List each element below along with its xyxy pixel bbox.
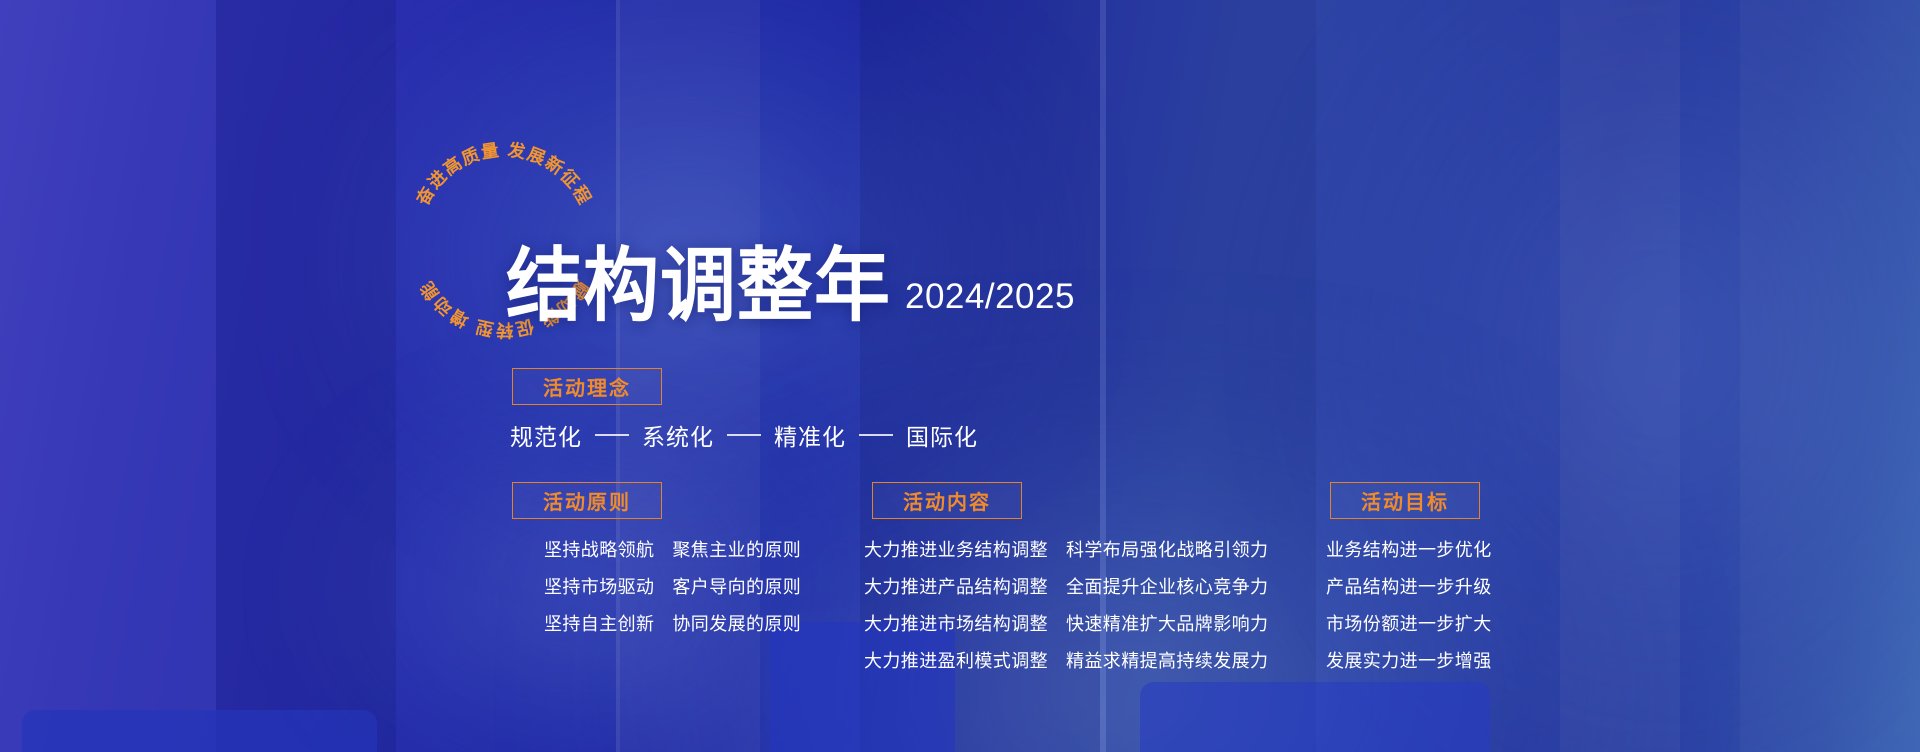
list-item: 坚持战略领航 聚焦主业的原则 (544, 537, 801, 564)
badge-activity-content: 活动内容 (872, 482, 1022, 519)
list-item-left: 坚持自主创新 (544, 611, 654, 638)
list-item-left: 坚持市场驱动 (544, 574, 654, 601)
decorative-rect (1140, 682, 1490, 752)
list-item: 大力推进市场结构调整 快速精准扩大品牌影响力 (864, 611, 1268, 638)
list-item: 大力推进盈利模式调整 精益求精提高持续发展力 (864, 648, 1268, 675)
background-stripe (1560, 0, 1680, 752)
list-item: 发展实力进一步增强 (1326, 648, 1492, 675)
headline: 结构调整年 2024/2025 (506, 252, 1075, 325)
list-item-left: 发展实力进一步增强 (1326, 648, 1492, 675)
column-activity-content: 大力推进业务结构调整 科学布局强化战略引领力 大力推进产品结构调整 全面提升企业… (864, 537, 1268, 675)
column-activity-goals: 业务结构进一步优化 产品结构进一步升级 市场份额进一步扩大 发展实力进一步增强 (1326, 537, 1492, 675)
list-item-right: 客户导向的原则 (672, 574, 801, 601)
list-item-right: 协同发展的原则 (672, 611, 801, 638)
list-item-left: 业务结构进一步优化 (1326, 537, 1492, 564)
badge-activity-principles: 活动原则 (512, 482, 662, 519)
list-item-left: 大力推进盈利模式调整 (864, 648, 1048, 675)
list-item-right: 全面提升企业核心竞争力 (1066, 574, 1268, 601)
list-item-left: 大力推进业务结构调整 (864, 537, 1048, 564)
concept-separator-icon (727, 434, 761, 436)
list-item-left: 产品结构进一步升级 (1326, 574, 1492, 601)
list-item-left: 大力推进市场结构调整 (864, 611, 1048, 638)
badge-activity-concept: 活动理念 (512, 368, 662, 405)
list-item: 大力推进产品结构调整 全面提升企业核心竞争力 (864, 574, 1268, 601)
list-item-right: 快速精准扩大品牌影响力 (1066, 611, 1268, 638)
banner-root: 奋进高质量 发展新征程 赋动能 促转型 增动能 结构调整年 2024/2025 … (0, 0, 1920, 752)
list-item-left: 坚持战略领航 (544, 537, 654, 564)
badge-activity-goals: 活动目标 (1330, 482, 1480, 519)
background-stripe (216, 0, 396, 752)
concept-item: 规范化 (510, 418, 582, 452)
background-stripe (0, 0, 216, 752)
list-item-right: 精益求精提高持续发展力 (1066, 648, 1268, 675)
list-item-right: 聚焦主业的原则 (672, 537, 801, 564)
concept-item: 系统化 (642, 418, 714, 452)
background-stripe (1740, 0, 1920, 752)
page-title: 结构调整年 (506, 248, 891, 325)
list-item: 业务结构进一步优化 (1326, 537, 1492, 564)
list-item: 市场份额进一步扩大 (1326, 611, 1492, 638)
list-item-left: 市场份额进一步扩大 (1326, 611, 1492, 638)
concept-separator-icon (859, 434, 893, 436)
list-item: 坚持市场驱动 客户导向的原则 (544, 574, 801, 601)
concept-row: 规范化 系统化 精准化 国际化 (510, 418, 978, 452)
list-item-right: 科学布局强化战略引领力 (1066, 537, 1268, 564)
column-activity-principles: 坚持战略领航 聚焦主业的原则 坚持市场驱动 客户导向的原则 坚持自主创新 协同发… (544, 537, 801, 638)
concept-separator-icon (595, 434, 629, 436)
headline-year: 2024/2025 (905, 277, 1075, 325)
concept-item: 精准化 (774, 418, 846, 452)
concept-item: 国际化 (906, 418, 978, 452)
list-item: 大力推进业务结构调整 科学布局强化战略引领力 (864, 537, 1268, 564)
list-item: 坚持自主创新 协同发展的原则 (544, 611, 801, 638)
list-item-left: 大力推进产品结构调整 (864, 574, 1048, 601)
decorative-rect (22, 710, 377, 752)
list-item: 产品结构进一步升级 (1326, 574, 1492, 601)
emblem-top-text: 奋进高质量 发展新征程 (412, 140, 596, 210)
